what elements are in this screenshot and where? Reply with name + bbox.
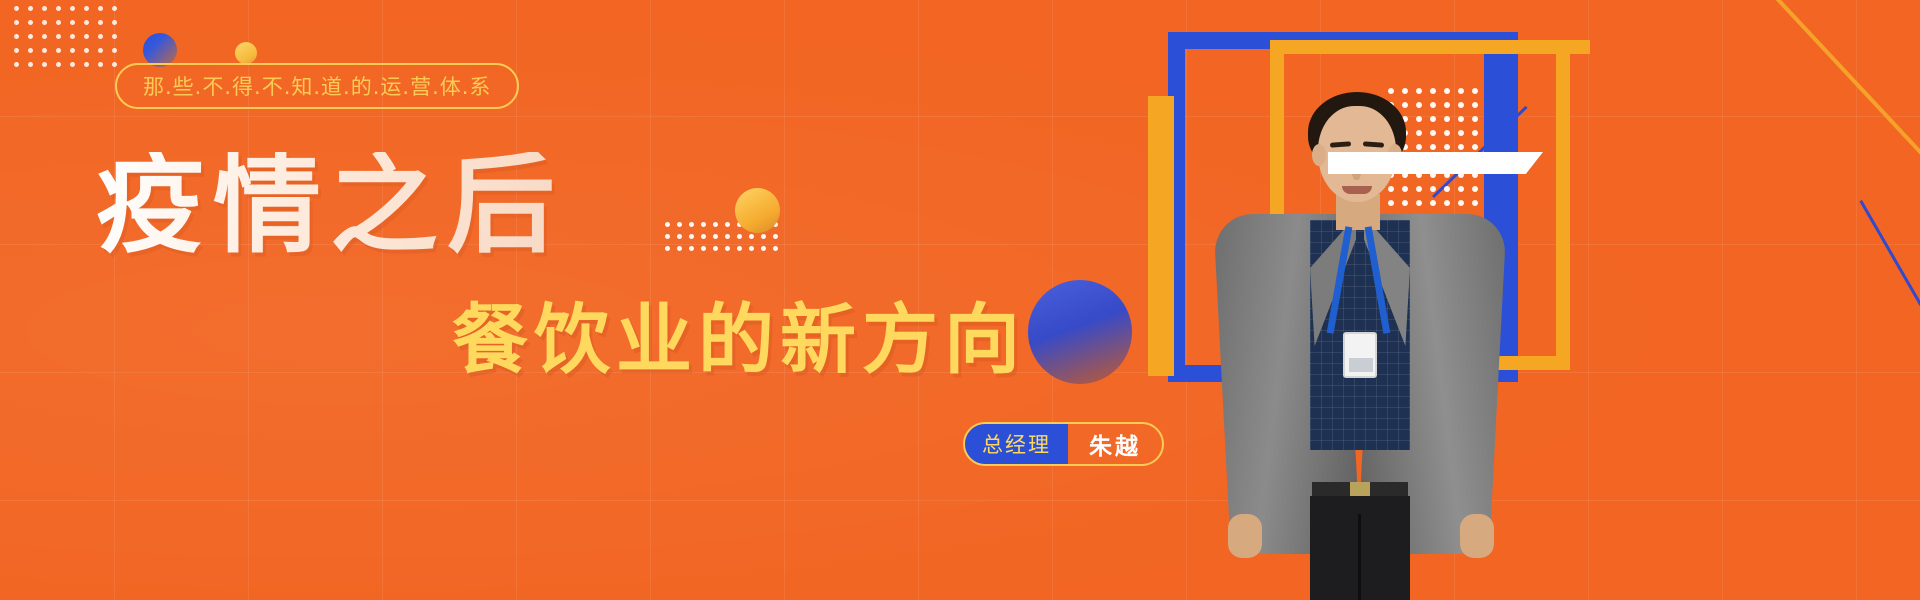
- eyebrow-text: 那.些.不.得.不.知.道.的.运.营.体.系: [143, 71, 491, 101]
- speaker-badge: 总经理 朱越: [963, 422, 1164, 466]
- portrait-frame: [1160, 24, 1920, 600]
- sphere-blue-large-icon: [1028, 280, 1132, 384]
- promo-banner: 那.些.不.得.不.知.道.的.运.营.体.系 疫情之后 餐饮业的新方向 总经理…: [0, 0, 1920, 600]
- speaker-photo: [1160, 44, 1680, 600]
- headline-line-1: 疫情之后: [96, 152, 564, 260]
- sphere-blue-small-icon: [143, 33, 177, 67]
- frame-highlight-bar: [1328, 152, 1543, 174]
- speaker-role: 总经理: [965, 424, 1068, 464]
- photo-fade: [1160, 44, 1680, 600]
- headline-line-2: 餐饮业的新方向: [452, 302, 1026, 378]
- speaker-name: 朱越: [1068, 424, 1162, 464]
- eyebrow-pill: 那.些.不.得.不.知.道.的.运.营.体.系: [115, 63, 519, 109]
- sphere-yellow-medium-icon: [735, 188, 780, 233]
- dot-matrix-top-left-icon: [14, 6, 126, 76]
- sphere-yellow-small-icon: [235, 42, 257, 64]
